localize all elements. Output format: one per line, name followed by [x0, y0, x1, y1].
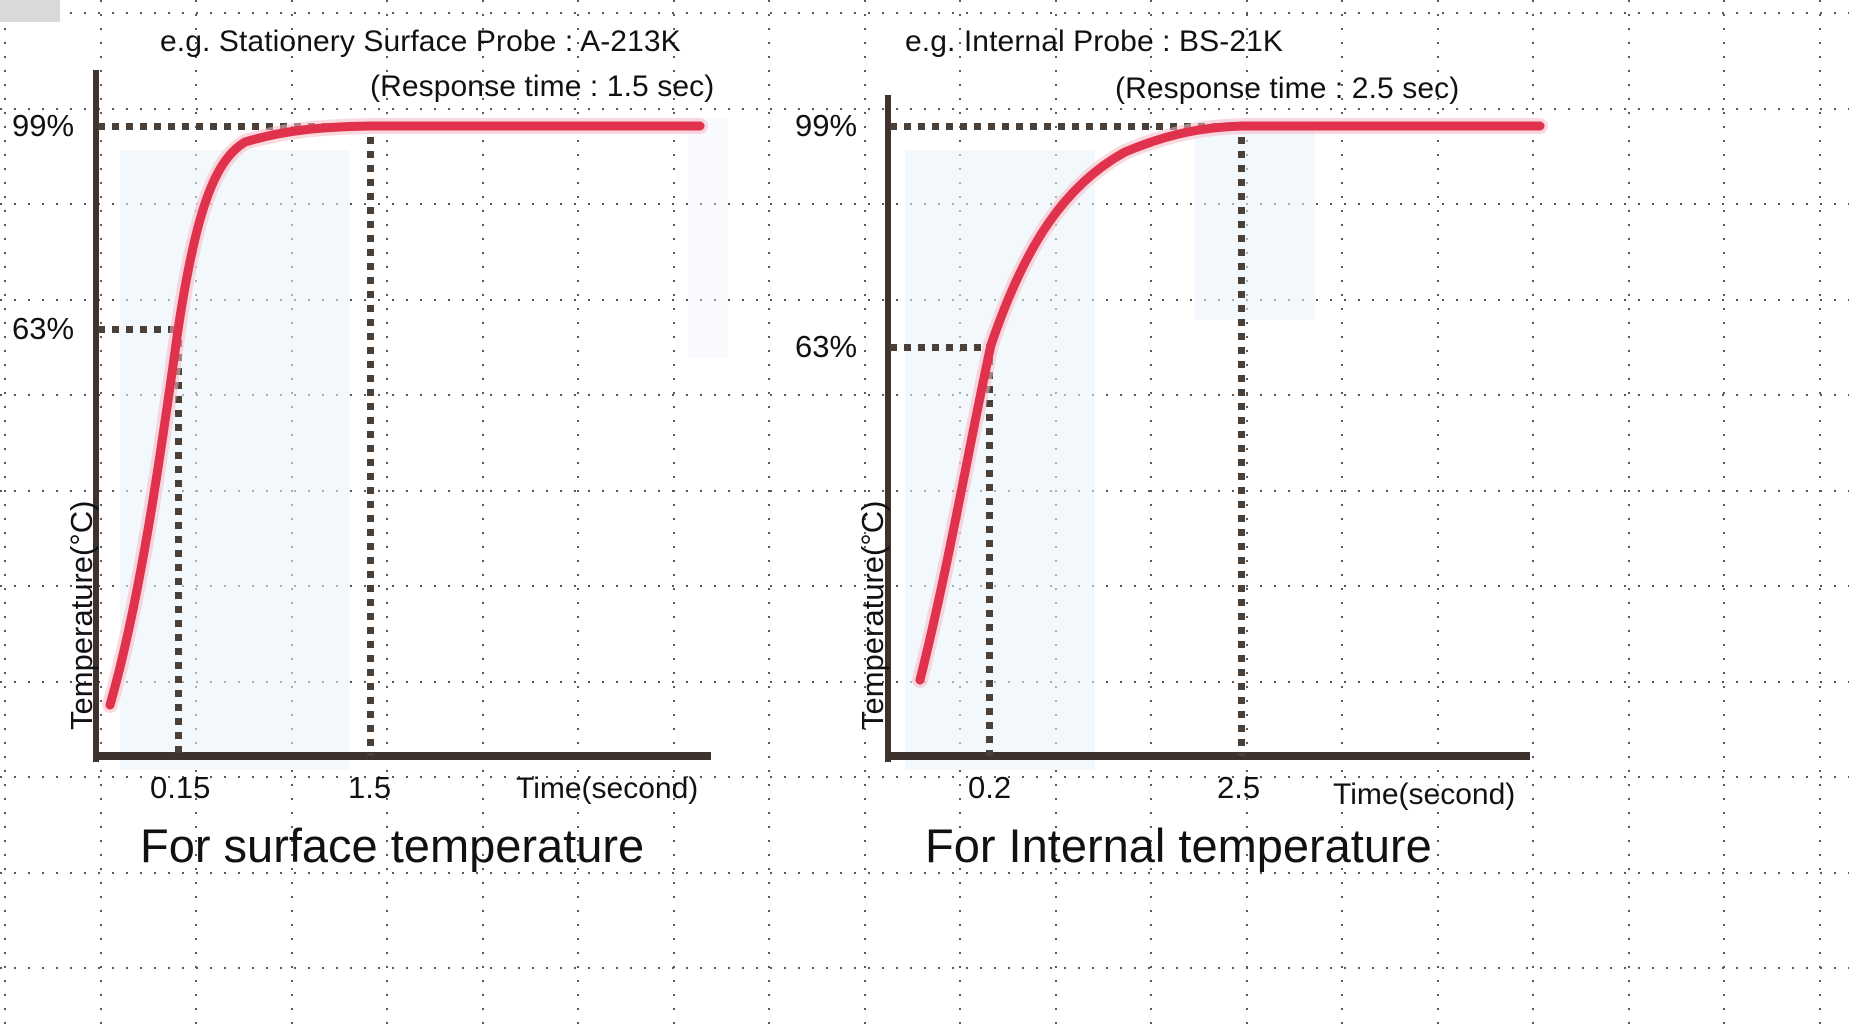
chart-surface-temperature: e.g. Stationery Surface Probe : A-213K (…: [0, 0, 925, 1030]
x-tick-015: 0.15: [150, 770, 210, 806]
x-axis-caption: Time(second): [1333, 778, 1515, 812]
y-axis-caption: Temperature(°C): [64, 501, 100, 730]
x-tick-25: 2.5: [1217, 770, 1260, 806]
y-tick-99: 99%: [12, 108, 74, 144]
chart-footer-caption: For surface temperature: [140, 818, 644, 873]
y-tick-63: 63%: [12, 311, 74, 347]
x-tick-15: 1.5: [348, 770, 391, 806]
response-curve: [0, 0, 925, 1030]
chart-internal-temperature: e.g. Internal Probe : BS-21K (Response t…: [925, 0, 1849, 1030]
y-tick-99: 99%: [795, 108, 857, 144]
x-tick-02: 0.2: [968, 770, 1011, 806]
chart-footer-caption: For Internal temperature: [925, 818, 1432, 873]
y-tick-63: 63%: [795, 329, 857, 365]
response-curve: [925, 0, 1849, 1030]
y-axis-caption: Temperature(°C): [855, 501, 891, 730]
x-axis-caption: Time(second): [516, 772, 698, 806]
